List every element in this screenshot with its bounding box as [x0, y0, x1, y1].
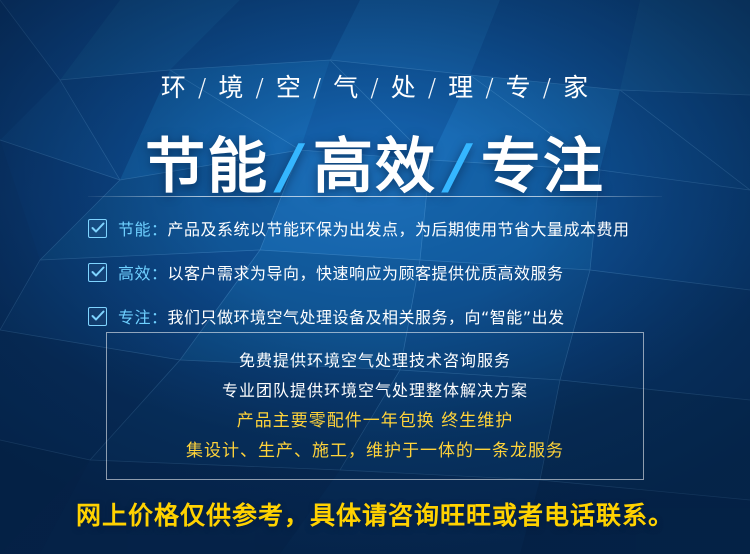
headline-big-part: 专注: [481, 132, 605, 202]
service-line: 免费提供环境空气处理技术咨询服务: [239, 346, 511, 376]
headline-big-part: 节能: [145, 132, 269, 202]
headline-small-separator: /: [313, 73, 322, 102]
headline-big-part: 高效: [313, 132, 437, 202]
services-box: 免费提供环境空气处理技术咨询服务 专业团队提供环境空气处理整体解决方案 产品主要…: [106, 332, 644, 480]
checkbox-checked-icon: [88, 263, 107, 282]
list-item-lead: 节能：: [118, 220, 168, 239]
headline-secondary: 环/境/空/气/处/理/专/家: [0, 68, 750, 104]
headline-small-char: 环: [161, 73, 187, 102]
list-item-body: 以客户需求为导向，快速响应为顾客提供优质高效服务: [168, 264, 564, 283]
list-item: 高效：以客户需求为导向，快速响应为顾客提供优质高效服务: [88, 252, 688, 292]
headline-small-separator: /: [198, 73, 207, 102]
headline-small-char: 理: [448, 73, 474, 102]
checkbox-checked-icon: [88, 307, 107, 326]
headline-small-separator: /: [370, 73, 379, 102]
headline-big-separator: /: [447, 132, 471, 202]
list-item-lead: 高效：: [118, 264, 168, 283]
price-disclaimer: 网上价格仅供参考，具体请咨询旺旺或者电话联系。: [0, 496, 750, 532]
list-item-text: 专注：我们只做环境空气处理设备及相关服务，向“智能”出发: [118, 304, 565, 328]
list-item-body: 产品及系统以节能环保为出发点，为后期使用节省大量成本费用: [168, 220, 630, 239]
headline-small-separator: /: [485, 73, 494, 102]
headline-small-char: 家: [563, 73, 589, 102]
list-item-text: 节能：产品及系统以节能环保为出发点，为后期使用节省大量成本费用: [118, 216, 630, 240]
headline-small-char: 气: [333, 73, 359, 102]
headline-small-char: 处: [391, 73, 417, 102]
list-item: 节能：产品及系统以节能环保为出发点，为后期使用节省大量成本费用: [88, 208, 688, 248]
headline-big-separator: /: [279, 132, 303, 202]
headline-primary: 节能/高效/专注: [0, 118, 750, 205]
checkbox-checked-icon: [88, 219, 107, 238]
feature-list: 节能：产品及系统以节能环保为出发点，为后期使用节省大量成本费用 高效：以客户需求…: [88, 208, 688, 340]
headline-small-separator: /: [255, 73, 264, 102]
divider-line: [88, 196, 662, 197]
headline-small-char: 空: [276, 73, 302, 102]
list-item-text: 高效：以客户需求为导向，快速响应为顾客提供优质高效服务: [118, 260, 564, 284]
service-line-highlight: 产品主要零配件一年包换 终生维护: [237, 406, 513, 436]
list-item-body: 我们只做环境空气处理设备及相关服务，向“智能”出发: [168, 308, 565, 327]
service-line: 专业团队提供环境空气处理整体解决方案: [222, 376, 528, 406]
headline-small-char: 专: [506, 73, 532, 102]
service-line-highlight: 集设计、生产、施工，维护于一体的一条龙服务: [186, 436, 564, 466]
list-item-lead: 专注：: [118, 308, 168, 327]
headline-small-separator: /: [543, 73, 552, 102]
list-item: 专注：我们只做环境空气处理设备及相关服务，向“智能”出发: [88, 296, 688, 336]
headline-small-separator: /: [428, 73, 437, 102]
promo-banner: 环/境/空/气/处/理/专/家 节能/高效/专注 节能：产品及系统以节能环保为出…: [0, 0, 750, 554]
headline-small-char: 境: [218, 73, 244, 102]
